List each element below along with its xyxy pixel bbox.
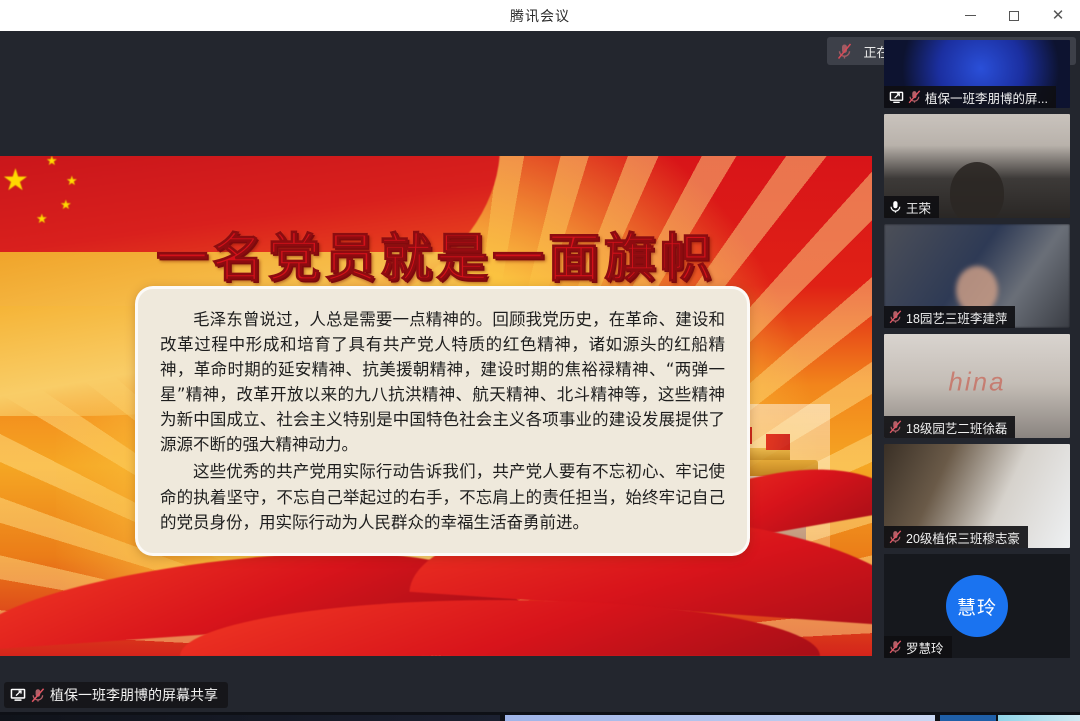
screen-share-icon [10, 688, 26, 702]
mic-on-icon [889, 200, 902, 214]
mic-muted-icon [829, 38, 859, 64]
video-overlay-text: hina [948, 366, 1005, 397]
mic-muted-icon [889, 310, 902, 324]
flag-star-small: ★ [46, 156, 58, 167]
participant-rail[interactable]: 植保一班李朋博的屏... 王荣 [872, 72, 1080, 721]
presentation-slide: ★ ★ ★ ★ ★ [0, 156, 872, 656]
maximize-icon [1009, 11, 1019, 21]
participant-tile[interactable]: 王荣 [884, 114, 1070, 218]
participant-nametag: 罗慧玲 [884, 636, 952, 658]
participant-name: 18园艺三班李建萍 [906, 308, 1007, 327]
slide-paragraph-2: 这些优秀的共产党用实际行动告诉我们，共产党人要有不忘初心、牢记使命的执着坚守，不… [160, 459, 725, 534]
participant-nametag: 18级园艺二班徐磊 [884, 416, 1015, 438]
taskbar-segment [505, 715, 935, 721]
taskbar-segment [940, 715, 996, 721]
participant-nametag: 植保一班李朋博的屏... [884, 86, 1056, 108]
window-controls: ✕ [948, 0, 1080, 31]
participant-nametag: 18园艺三班李建萍 [884, 306, 1015, 328]
participant-tile[interactable]: 慧玲 罗慧玲 [884, 554, 1070, 658]
window-title: 腾讯会议 [510, 6, 570, 26]
mic-muted-icon [31, 688, 45, 703]
close-button[interactable]: ✕ [1036, 0, 1080, 31]
mic-muted-icon [889, 640, 902, 654]
minimize-icon [965, 15, 976, 16]
participant-name: 罗慧玲 [906, 638, 944, 657]
participant-tile[interactable]: 18园艺三班李建萍 [884, 224, 1070, 328]
person-silhouette [950, 162, 1004, 218]
flag-star-small: ★ [60, 198, 72, 211]
participant-name: 植保一班李朋博的屏... [925, 88, 1048, 107]
meeting-body: 正在讲话: 19植保三班贾安... ★ ★ ★ ★ ★ [0, 31, 1080, 712]
close-icon: ✕ [1052, 8, 1065, 23]
maximize-button[interactable] [992, 0, 1036, 31]
participant-name: 18级园艺二班徐磊 [906, 418, 1007, 437]
flag-star-small: ★ [66, 174, 78, 187]
red-flag-icon [766, 434, 790, 450]
desktop-taskbar-sliver[interactable] [0, 712, 1080, 721]
screen-share-icon [889, 91, 904, 104]
participant-tile[interactable]: hina 18级园艺二班徐磊 [884, 334, 1070, 438]
slide-paragraph-1: 毛泽东曾说过，人总是需要一点精神的。回顾我党历史，在革命、建设和改革过程中形成和… [160, 307, 725, 457]
participant-nametag: 20级植保三班穆志豪 [884, 526, 1028, 548]
presenter-label-text: 植保一班李朋博的屏幕共享 [50, 685, 218, 705]
mic-muted-icon [889, 420, 902, 434]
participant-tile[interactable]: 植保一班李朋博的屏... [884, 40, 1070, 108]
taskbar-segment [998, 715, 1080, 721]
participant-nametag: 王荣 [884, 196, 939, 218]
presenter-label: 植保一班李朋博的屏幕共享 [4, 682, 228, 708]
mic-muted-icon [908, 90, 921, 104]
minimize-button[interactable] [948, 0, 992, 31]
participant-name: 20级植保三班穆志豪 [906, 528, 1020, 547]
participant-tile[interactable]: 20级植保三班穆志豪 [884, 444, 1070, 548]
avatar: 慧玲 [946, 575, 1008, 637]
participant-name: 王荣 [906, 198, 931, 217]
taskbar-segment [0, 715, 500, 721]
shared-screen-stage[interactable]: ★ ★ ★ ★ ★ [0, 72, 872, 712]
title-bar: 腾讯会议 ✕ [0, 0, 1080, 31]
tencent-meeting-window: 腾讯会议 ✕ 正在讲话: 19植保三班 [0, 0, 1080, 721]
slide-text-card: 毛泽东曾说过，人总是需要一点精神的。回顾我党历史，在革命、建设和改革过程中形成和… [135, 286, 750, 556]
mic-muted-icon [889, 530, 902, 544]
flag-star-large: ★ [2, 166, 29, 196]
slide-title: 一名党员就是一面旗帜 [0, 216, 872, 291]
